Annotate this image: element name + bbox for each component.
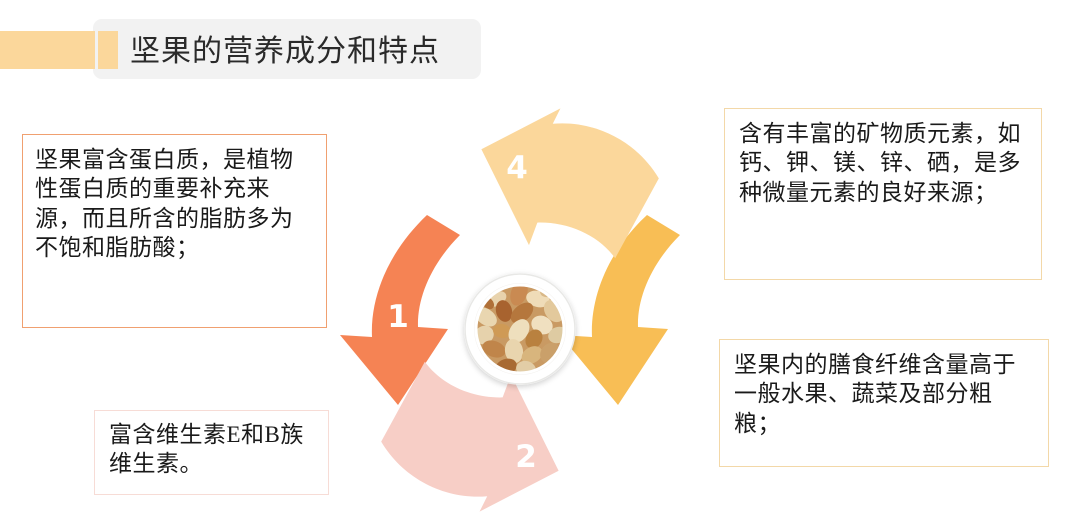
callout-protein: 坚果富含蛋白质，是植物性蛋白质的重要补充来源，而且所含的脂肪多为不饱和脂肪酸； xyxy=(22,134,327,328)
cycle-arrow-4-number: 4 xyxy=(506,150,528,186)
cycle-arrow-2-number: 2 xyxy=(515,439,537,475)
callout-vitamin: 富含维生素E和B族维生素。 xyxy=(94,410,329,495)
title-accent-bar-narrow xyxy=(98,31,118,69)
cycle-arrow-1: 1 xyxy=(340,215,460,405)
page-title: 坚果的营养成分和特点 xyxy=(130,26,440,70)
callout-fiber: 坚果内的膳食纤维含量高于一般水果、蔬菜及部分粗粮； xyxy=(719,339,1049,467)
cycle-diagram: 1 2 3 4 xyxy=(330,105,710,515)
title-accent-bar-wide xyxy=(0,31,95,69)
callout-mineral: 含有丰富的矿物质元素，如钙、钾、镁、锌、硒，是多种微量元素的良好来源； xyxy=(724,108,1042,280)
cycle-arrow-3-number: 3 xyxy=(649,292,671,328)
cycle-arrow-1-number: 1 xyxy=(387,299,409,335)
nut-bowl-image xyxy=(464,273,576,385)
